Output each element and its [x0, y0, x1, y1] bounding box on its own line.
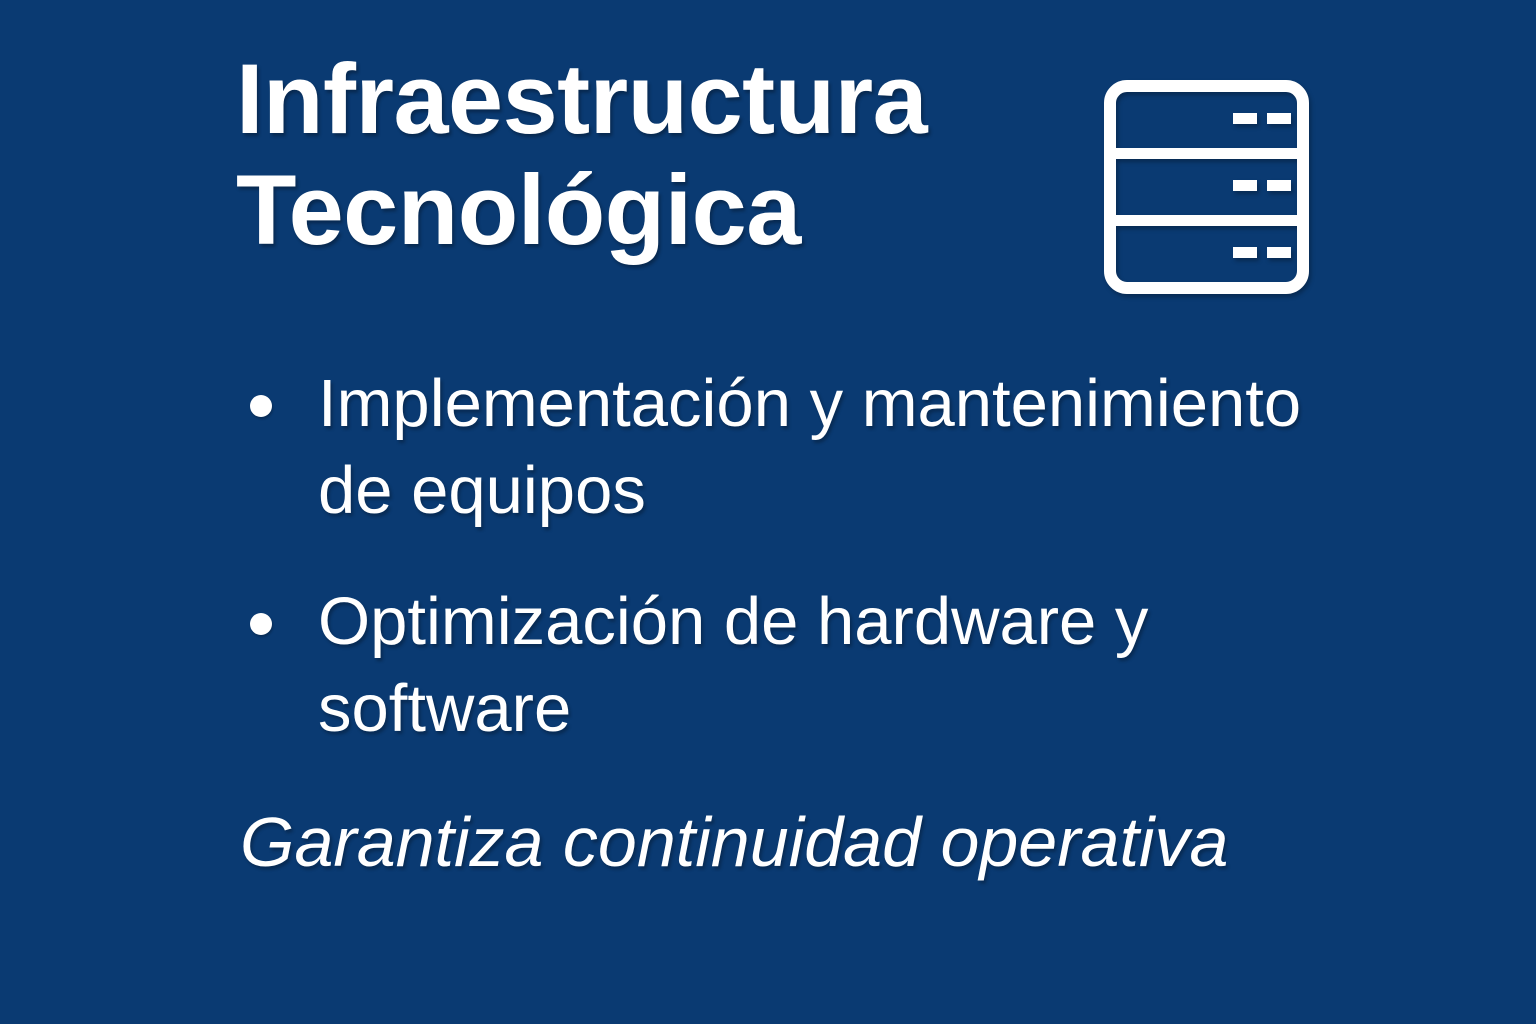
list-item: Implementación y mantenimiento de equipo…	[236, 360, 1356, 534]
server-indicator-2b	[1267, 180, 1291, 191]
feature-bullet-list: Implementación y mantenimiento de equipo…	[236, 360, 1356, 752]
list-item: Optimización de hardware y software	[236, 578, 1356, 752]
server-indicator-3b	[1267, 247, 1291, 258]
bullet-dot-icon	[250, 395, 272, 417]
server-rack-icon-svg	[1104, 80, 1309, 294]
page-title: Infraestructura Tecnológica	[236, 44, 927, 266]
bullet-dot-icon	[250, 613, 272, 635]
bullet-item-label: Optimización de hardware y software	[318, 578, 1356, 752]
server-rack-icon	[1104, 80, 1309, 294]
footer-note: Garantiza continuidad operativa	[240, 800, 1228, 884]
slide-root: Infraestructura Tecnológica Implementaci…	[0, 0, 1536, 1024]
server-indicator-1b	[1267, 113, 1291, 124]
bullet-item-label: Implementación y mantenimiento de equipo…	[318, 360, 1356, 534]
server-indicator-3a	[1233, 247, 1257, 258]
server-indicator-2a	[1233, 180, 1257, 191]
server-indicator-1a	[1233, 113, 1257, 124]
